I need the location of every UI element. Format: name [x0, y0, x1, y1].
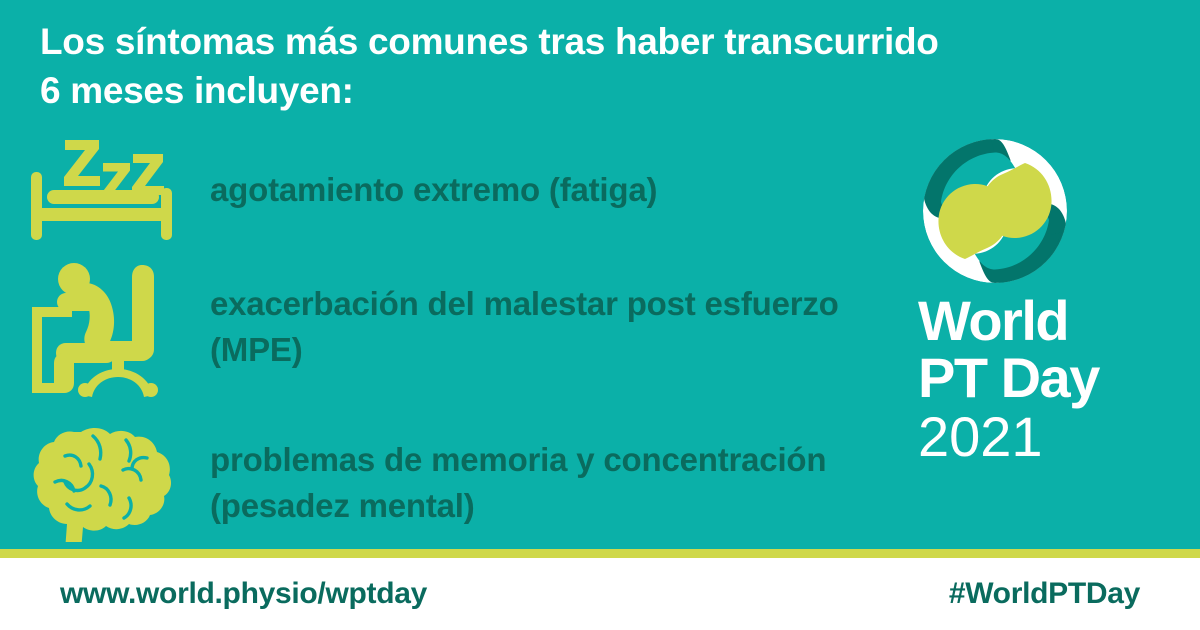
symptom-label: agotamiento extremo (fatiga) [210, 167, 667, 213]
logo-line-1: World [918, 294, 1172, 349]
logo-year: 2021 [918, 408, 1172, 465]
logo-line-2: PT Day [918, 351, 1172, 406]
page-title-line-1: Los síntomas más comunes tras haber tran… [40, 18, 1150, 67]
bed-sleep-icon [25, 136, 185, 244]
poster-canvas: Los síntomas más comunes tras haber tran… [0, 0, 1200, 630]
symptom-label: problemas de memoria y concentración (pe… [210, 437, 900, 528]
symptom-icon-cell [0, 420, 210, 545]
symptom-label: exacerbación del malestar post esfuerzo … [210, 281, 900, 372]
list-item: problemas de memoria y concentración (pe… [0, 420, 900, 545]
logo-wordmark: World PT Day 2021 [918, 294, 1172, 465]
symptom-icon-cell [0, 252, 210, 402]
list-item: agotamiento extremo (fatiga) [0, 132, 900, 247]
symptom-icon-cell [0, 132, 210, 247]
website-url[interactable]: www.world.physio/wptday [60, 577, 427, 611]
footer-bar: www.world.physio/wptday #WorldPTDay [0, 558, 1200, 630]
world-physio-circle-logo [920, 136, 1070, 286]
brain-icon [31, 424, 179, 542]
page-title-line-2: 6 meses incluyen: [40, 67, 1150, 116]
list-item: exacerbación del malestar post esfuerzo … [0, 252, 900, 402]
world-pt-day-logo: World PT Day 2021 [912, 136, 1172, 465]
exhausted-person-at-desk-icon [30, 257, 180, 397]
hashtag[interactable]: #WorldPTDay [949, 577, 1140, 611]
lime-divider-bar [0, 549, 1200, 558]
page-title: Los síntomas más comunes tras haber tran… [40, 18, 1150, 116]
